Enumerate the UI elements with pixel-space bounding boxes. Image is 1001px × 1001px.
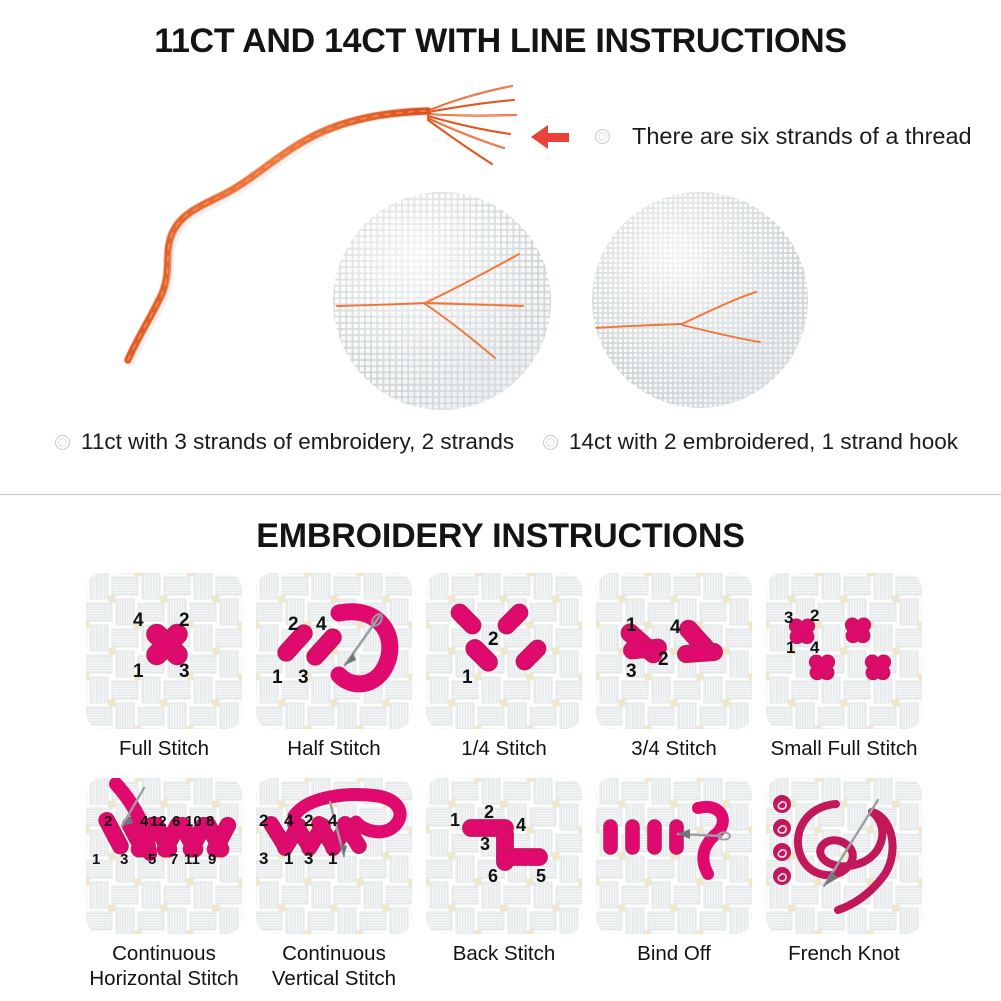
svg-text:2: 2	[104, 813, 112, 830]
stitch-diagram-small-full-stitch: 32 14	[766, 573, 922, 729]
six-strands-text: There are six strands of a thread	[632, 123, 972, 150]
stitch-diagram-full-stitch: 42 13	[86, 573, 242, 729]
strands-11ct	[333, 192, 551, 410]
caption-14ct-text: 14ct with 2 embroidered, 1 strand hook	[569, 429, 958, 455]
svg-text:3: 3	[626, 661, 637, 682]
stitch-card-continuous-horizontal-stitch: 2 412 610 8 13 57 119 Continuous Horizon…	[79, 778, 249, 991]
ring-bullet-icon	[543, 435, 558, 450]
svg-text:3: 3	[304, 849, 313, 868]
stitch-card-back-stitch: 12 43 65 Back Stitch	[419, 778, 589, 966]
stitch-diagram-quarter-stitch: 21	[426, 573, 582, 729]
stitch-card-full-stitch: 42 13 Full Stitch	[79, 573, 249, 761]
svg-text:2: 2	[484, 802, 494, 822]
stitch-card-continuous-vertical-stitch: 24 24 31 31 Continuous Vertical Stitch	[249, 778, 419, 991]
svg-text:4: 4	[133, 610, 144, 631]
svg-text:2: 2	[658, 649, 669, 670]
svg-text:4: 4	[516, 815, 526, 835]
ring-bullet-icon	[55, 435, 70, 450]
svg-text:11: 11	[184, 851, 200, 868]
svg-text:4: 4	[284, 811, 294, 830]
six-strands-annotation: There are six strands of a thread	[531, 123, 972, 150]
swatch-captions: 11ct with 3 strands of embroidery, 2 str…	[0, 429, 1001, 459]
svg-text:4: 4	[328, 811, 338, 830]
svg-text:7: 7	[170, 851, 178, 868]
strands-14ct	[592, 192, 808, 408]
embroidery-instructions-section: EMBROIDERY INSTRUCTIONS 42 13	[0, 495, 1001, 1001]
stitch-label: 3/4 Stitch	[631, 736, 716, 761]
stitch-row: 2 412 610 8 13 57 119 Continuous Horizon…	[0, 778, 1001, 983]
svg-text:2: 2	[179, 610, 190, 631]
stitch-diagram-bind-off	[596, 778, 752, 934]
stitch-label: 1/4 Stitch	[461, 736, 546, 761]
svg-text:1: 1	[328, 849, 337, 868]
stitch-diagram-continuous-horizontal-stitch: 2 412 610 8 13 57 119	[86, 778, 242, 934]
svg-text:2: 2	[288, 614, 299, 635]
svg-text:3: 3	[298, 667, 309, 688]
svg-text:10: 10	[185, 813, 202, 830]
svg-text:1: 1	[450, 810, 460, 830]
svg-text:2: 2	[259, 811, 268, 830]
stitch-label: Half Stitch	[287, 736, 380, 761]
svg-text:4: 4	[810, 638, 820, 657]
svg-text:1: 1	[786, 638, 795, 657]
svg-text:1: 1	[272, 667, 283, 688]
svg-text:1: 1	[284, 849, 293, 868]
stitch-label: Continuous Vertical Stitch	[272, 941, 396, 991]
arrow-left-icon	[531, 124, 569, 150]
stitch-diagram-french-knot	[766, 778, 922, 934]
caption-14ct: 14ct with 2 embroidered, 1 strand hook	[543, 429, 958, 455]
svg-text:1: 1	[626, 615, 637, 636]
svg-text:12: 12	[150, 813, 167, 830]
stitch-diagram-back-stitch: 12 43 65	[426, 778, 582, 934]
svg-text:5: 5	[148, 851, 156, 868]
stitch-label: French Knot	[788, 941, 900, 966]
svg-text:4: 4	[140, 813, 149, 830]
fabric-swatch-11ct	[333, 192, 551, 410]
svg-text:3: 3	[179, 661, 190, 682]
svg-text:1: 1	[462, 667, 473, 688]
svg-text:9: 9	[208, 851, 216, 868]
page-title-thread: 11CT AND 14CT WITH LINE INSTRUCTIONS	[0, 22, 1001, 61]
fabric-swatch-14ct	[592, 192, 808, 408]
svg-text:2: 2	[810, 606, 819, 625]
stitch-grid: 42 13 Full Stitch	[0, 573, 1001, 983]
stitch-label: Full Stitch	[119, 736, 209, 761]
svg-text:3: 3	[480, 834, 490, 854]
svg-text:3: 3	[120, 851, 128, 868]
stitch-diagram-continuous-vertical-stitch: 24 24 31 31	[256, 778, 412, 934]
stitch-card-half-stitch: 24 13 Half Stitch	[249, 573, 419, 761]
svg-text:1: 1	[133, 661, 144, 682]
svg-text:4: 4	[316, 614, 327, 635]
thread-instructions-section: 11CT AND 14CT WITH LINE INSTRUCTIONS	[0, 0, 1001, 495]
svg-text:6: 6	[488, 866, 498, 886]
stitch-card-bind-off: Bind Off	[589, 778, 759, 966]
svg-text:5: 5	[536, 866, 546, 886]
stitch-card-small-full-stitch: 32 14 Small Full Stitch	[759, 573, 929, 761]
stitch-card-quarter-stitch: 21 1/4 Stitch	[419, 573, 589, 761]
caption-11ct: 11ct with 3 strands of embroidery, 2 str…	[55, 429, 514, 455]
svg-text:2: 2	[488, 629, 499, 650]
svg-text:3: 3	[784, 608, 793, 627]
svg-text:6: 6	[172, 813, 180, 830]
svg-text:8: 8	[206, 813, 214, 830]
stitch-card-french-knot: French Knot	[759, 778, 929, 966]
page-title-stitches: EMBROIDERY INSTRUCTIONS	[0, 517, 1001, 556]
ring-bullet-icon	[595, 129, 610, 144]
svg-text:1: 1	[92, 851, 100, 868]
stitch-row: 42 13 Full Stitch	[0, 573, 1001, 778]
svg-text:4: 4	[670, 617, 681, 638]
stitch-diagram-half-stitch: 24 13	[256, 573, 412, 729]
stitch-card-three-quarter-stitch: 14 23 3/4 Stitch	[589, 573, 759, 761]
stitch-label: Continuous Horizontal Stitch	[89, 941, 238, 991]
stitch-label: Back Stitch	[453, 941, 556, 966]
caption-11ct-text: 11ct with 3 strands of embroidery, 2 str…	[81, 429, 514, 455]
stitch-label: Bind Off	[637, 941, 711, 966]
svg-text:3: 3	[259, 849, 268, 868]
stitch-diagram-three-quarter-stitch: 14 23	[596, 573, 752, 729]
stitch-label: Small Full Stitch	[771, 736, 918, 761]
svg-text:2: 2	[304, 811, 313, 830]
